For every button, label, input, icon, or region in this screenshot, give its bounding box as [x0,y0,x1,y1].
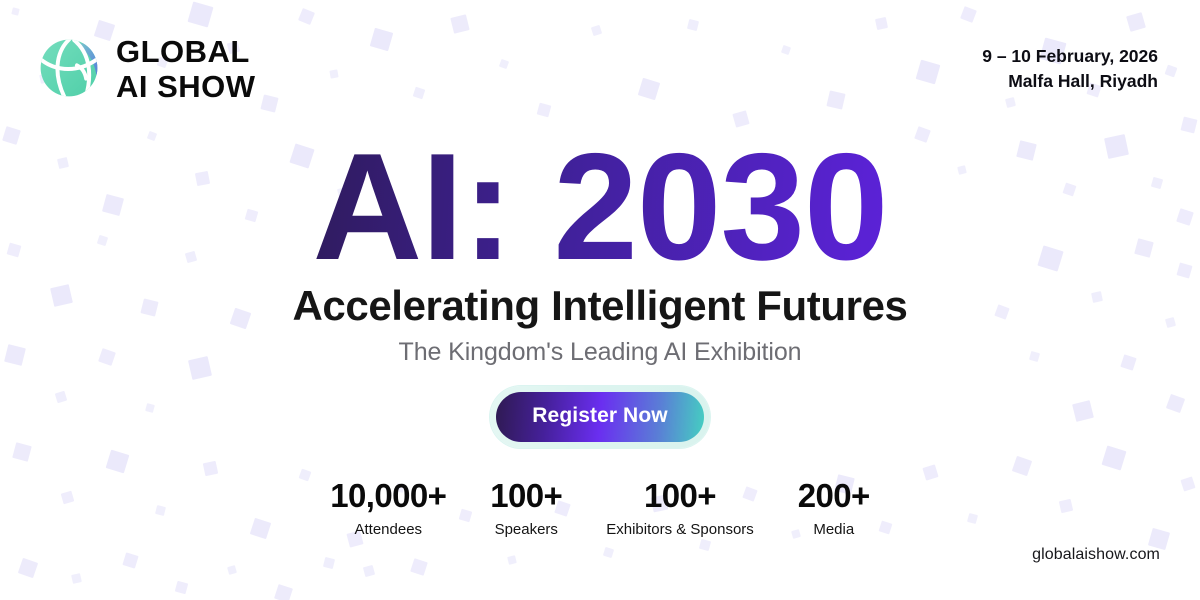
stat-item: 100+Speakers [468,478,584,539]
stats-row: 10,000+Attendees100+Speakers100+Exhibito… [0,478,1200,539]
wordmark-line-global: GLOBAL [116,36,256,67]
event-dates: 9 – 10 February, 2026 [982,44,1158,69]
event-banner: GLOBAL AI SHOW 9 – 10 February, 2026 Mal… [0,0,1200,600]
hero-tagline: The Kingdom's Leading AI Exhibition [0,338,1200,367]
register-now-button[interactable]: Register Now [496,392,703,442]
stat-item: 200+Media [776,478,892,539]
cta-container: Register Now [0,386,1200,448]
event-details: 9 – 10 February, 2026 Malfa Hall, Riyadh [982,44,1158,95]
page-title: AI: 2030 [0,131,1200,283]
event-venue: Malfa Hall, Riyadh [982,69,1158,94]
stat-label: Speakers [490,521,562,539]
stat-item: 10,000+Attendees [308,478,468,539]
globe-sphere-icon [36,35,102,101]
brand-logo-lockup[interactable]: GLOBAL AI SHOW [36,34,256,102]
stat-value: 100+ [606,478,754,515]
stat-value: 10,000+ [330,478,446,515]
hero-subhead: Accelerating Intelligent Futures [0,282,1200,330]
cta-halo: Register Now [490,386,709,448]
website-url: globalaishow.com [1032,546,1160,564]
banner-header: GLOBAL AI SHOW 9 – 10 February, 2026 Mal… [0,0,1200,120]
stat-label: Exhibitors & Sponsors [606,521,754,539]
stat-value: 200+ [798,478,870,515]
stat-value: 100+ [490,478,562,515]
stat-label: Media [798,521,870,539]
stat-label: Attendees [330,521,446,539]
stat-item: 100+Exhibitors & Sponsors [584,478,776,539]
brand-wordmark: GLOBAL AI SHOW [116,34,256,102]
wordmark-line-ai-show: AI SHOW [116,71,256,102]
